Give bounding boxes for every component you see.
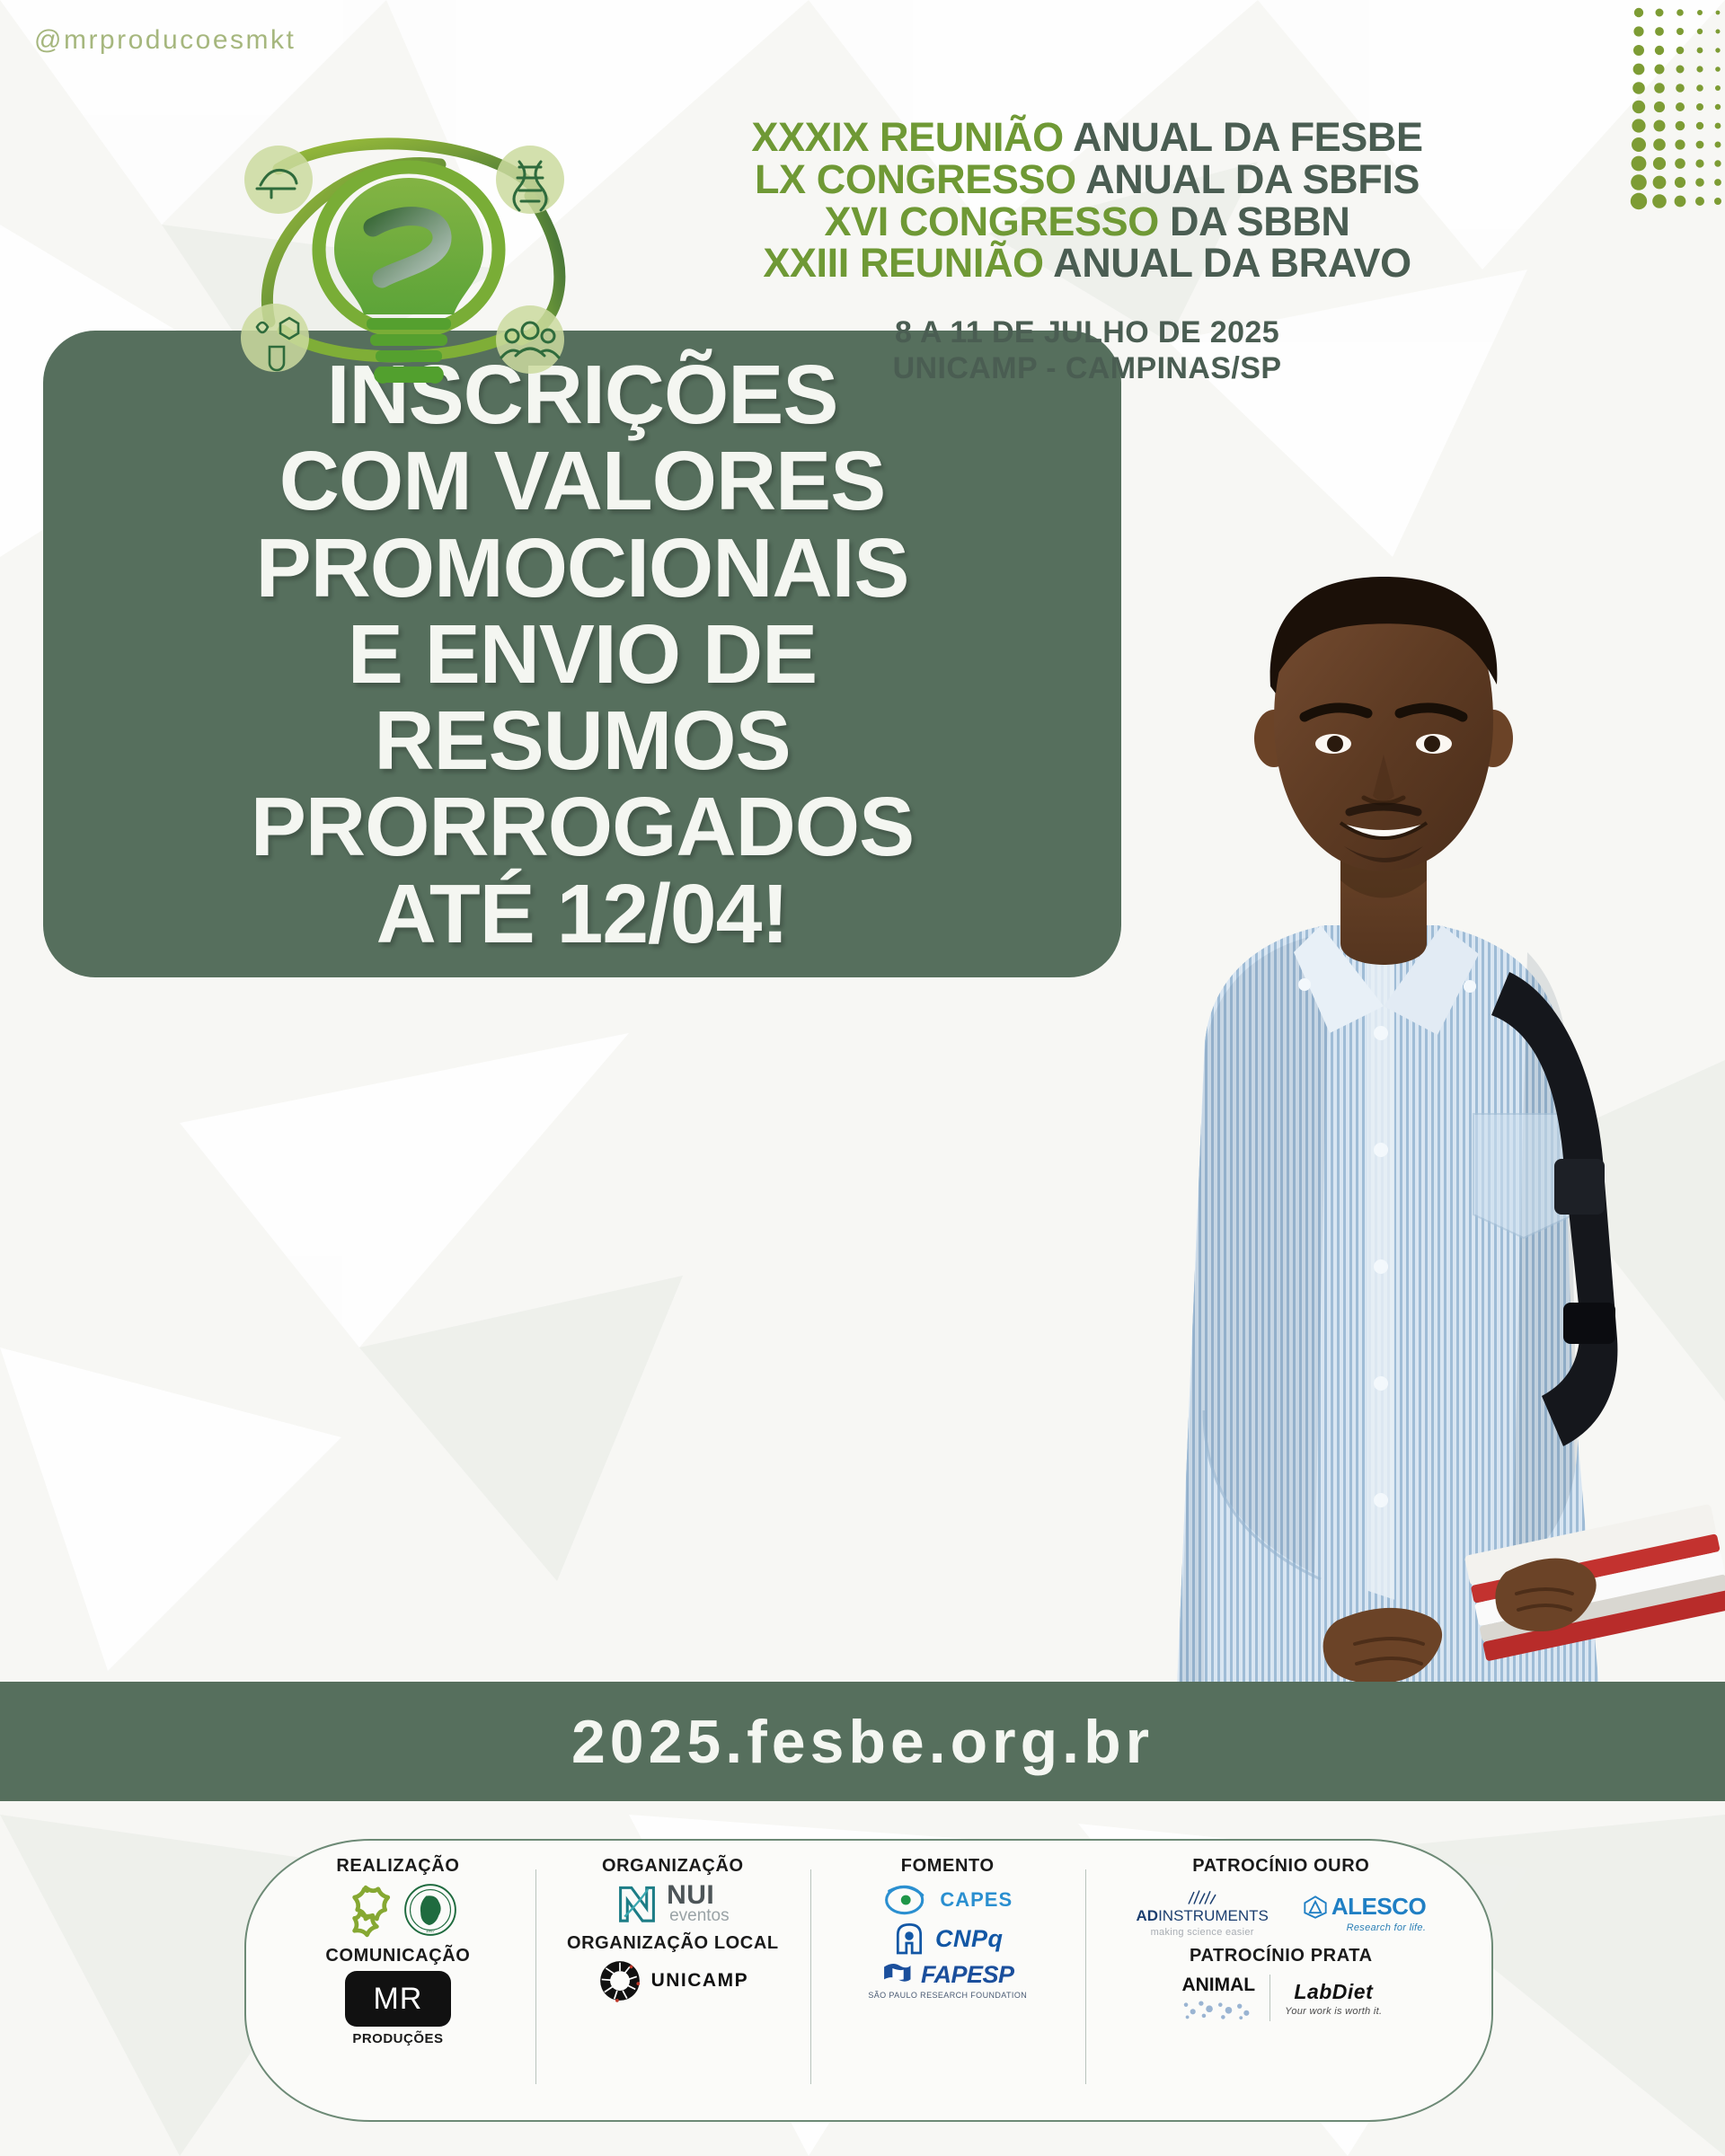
header-titles: XXXIX REUNIÃO ANUAL DA FESBE LX CONGRESS…	[629, 117, 1545, 386]
event-date: 8 A 11 DE JULHO DE 2025	[629, 315, 1545, 350]
sponsors-card: REALIZAÇÃO 1957 COMUNICAÇÃO MR PRODUÇÕES…	[244, 1839, 1493, 2122]
website-url[interactable]: 2025.fesbe.org.br	[571, 1707, 1154, 1777]
sbfis-seal-logo: 1957	[402, 1882, 458, 1938]
headline-line-4: E ENVIO DE	[66, 611, 1098, 697]
labdiet-label: LabDiet	[1294, 1980, 1373, 2004]
event-meta: 8 A 11 DE JULHO DE 2025 UNICAMP - CAMPIN…	[629, 315, 1545, 386]
headline-line-2: COM VALORES	[66, 437, 1098, 524]
headline-line-3: PROMOCIONAIS	[66, 525, 1098, 611]
sponsor-heading-organizacao: ORGANIZAÇÃO	[602, 1857, 744, 1877]
unicamp-block: UNICAMP	[597, 1958, 749, 2003]
adinstruments-label: ADINSTRUMENTS	[1137, 1907, 1269, 1925]
prata-logos: ANIMAL LabDiet Your work is worth it.	[1180, 1975, 1382, 2021]
sponsor-heading-organizacao-local: ORGANIZAÇÃO LOCAL	[567, 1934, 779, 1954]
animal-pro-label: ANIMAL	[1181, 1975, 1255, 1996]
title-line-4: XXIII REUNIÃO ANUAL DA BRAVO	[629, 243, 1545, 285]
fesbe-event-logo	[216, 115, 593, 402]
fapesp-block: FAPESP SÃO PAULO RESEARCH FOUNDATION	[868, 1961, 1027, 2000]
fapesp-tagline: SÃO PAULO RESEARCH FOUNDATION	[868, 1991, 1027, 2000]
fesbe-mark-logo	[338, 1882, 394, 1938]
animal-pro-dots-icon	[1180, 1998, 1257, 2021]
sponsor-heading-ouro: PATROCÍNIO OURO	[1192, 1857, 1369, 1877]
fapesp-label: FAPESP	[921, 1961, 1014, 1989]
realizacao-logos: 1957	[338, 1882, 458, 1938]
cnpq-label: CNPq	[935, 1925, 1004, 1953]
capes-logo	[882, 1882, 931, 1918]
title-rest-1: ANUAL DA FESBE	[1064, 114, 1423, 160]
title-highlight-2: LX CONGRESSO	[755, 156, 1076, 202]
title-highlight-4: XXIII REUNIÃO	[763, 240, 1043, 286]
sponsor-heading-fomento: FOMENTO	[901, 1857, 995, 1877]
headline-line-5: RESUMOS	[66, 697, 1098, 783]
sponsor-column-fomento: FOMENTO CAPES CNPq FAPESP	[810, 1857, 1085, 2107]
title-highlight-3: XVI CONGRESSO	[824, 199, 1158, 244]
sponsor-heading-prata: PATROCÍNIO PRATA	[1190, 1947, 1373, 1966]
title-line-3: XVI CONGRESSO DA SBBN	[629, 201, 1545, 243]
mr-producoes-caption: PRODUÇÕES	[352, 2031, 443, 2046]
event-venue: UNICAMP - CAMPINAS/SP	[629, 351, 1545, 386]
cnpq-logo	[892, 1922, 926, 1957]
sponsor-heading-realizacao: REALIZAÇÃO	[336, 1857, 459, 1877]
alesco-label: ALESCO	[1331, 1893, 1426, 1921]
instagram-handle: @mrproducoesmkt	[34, 25, 296, 56]
headline-text: INSCRIÇÕES COM VALORES PROMOCIONAIS E EN…	[43, 351, 1121, 957]
alesco-tagline: Research for life.	[1347, 1922, 1427, 1933]
unicamp-logo	[597, 1958, 642, 2003]
website-banner[interactable]: 2025.fesbe.org.br	[0, 1682, 1725, 1801]
svg-text:1957: 1957	[426, 1928, 436, 1932]
adinstruments-wave-icon	[1186, 1889, 1218, 1905]
title-highlight-1: XXXIX REUNIÃO	[751, 114, 1063, 160]
capes-label: CAPES	[940, 1888, 1013, 1912]
headline-line-7: ATÉ 12/04!	[66, 870, 1098, 957]
decorative-dot-grid	[1626, 0, 1725, 216]
cnpq-block: CNPq	[892, 1922, 1004, 1957]
capes-block: CAPES	[882, 1882, 1013, 1918]
headline-line-6: PRORROGADOS	[66, 783, 1098, 870]
mr-producoes-label: MR	[373, 1982, 422, 2017]
labdiet-tagline: Your work is worth it.	[1285, 2006, 1382, 2017]
title-rest-2: ANUAL DA SBFIS	[1076, 156, 1420, 202]
mr-producoes-logo: MR	[345, 1971, 451, 2027]
sponsor-heading-comunicacao: COMUNICAÇÃO	[325, 1947, 470, 1966]
nui-eventos-logo	[616, 1882, 658, 1925]
alesco-block: ALESCO Research for life.	[1303, 1893, 1426, 1933]
adinstruments-block: ADINSTRUMENTS making science easier	[1137, 1889, 1269, 1938]
adinstruments-tagline: making science easier	[1151, 1927, 1254, 1938]
ouro-logos: ADINSTRUMENTS making science easier ALES…	[1137, 1889, 1427, 1938]
nui-label: NUI	[667, 1883, 730, 1908]
unicamp-label: UNICAMP	[651, 1970, 749, 1992]
mr-producoes-block: MR PRODUÇÕES	[345, 1971, 451, 2046]
nui-sub: eventos	[669, 1908, 730, 1923]
title-rest-4: ANUAL DA BRAVO	[1044, 240, 1411, 286]
alesco-mark-icon	[1303, 1895, 1328, 1920]
labdiet-block: LabDiet Your work is worth it.	[1270, 1975, 1382, 2021]
title-rest-3: DA SBBN	[1159, 199, 1350, 244]
animal-pro-block: ANIMAL	[1180, 1975, 1269, 2021]
title-line-1: XXXIX REUNIÃO ANUAL DA FESBE	[629, 117, 1545, 159]
sponsor-column-patrocinio: PATROCÍNIO OURO ADINSTRUMENTS making sci…	[1085, 1857, 1477, 2107]
headline-card: INSCRIÇÕES COM VALORES PROMOCIONAIS E EN…	[43, 331, 1121, 977]
nui-eventos-block: NUI eventos	[616, 1882, 730, 1925]
sponsor-column-realizacao: REALIZAÇÃO 1957 COMUNICAÇÃO MR PRODUÇÕES	[261, 1857, 535, 2107]
fapesp-flag-icon	[881, 1961, 912, 1988]
sponsor-column-organizacao: ORGANIZAÇÃO NUI eventos ORGANIZAÇÃO LOCA…	[535, 1857, 810, 2107]
title-line-2: LX CONGRESSO ANUAL DA SBFIS	[629, 159, 1545, 201]
